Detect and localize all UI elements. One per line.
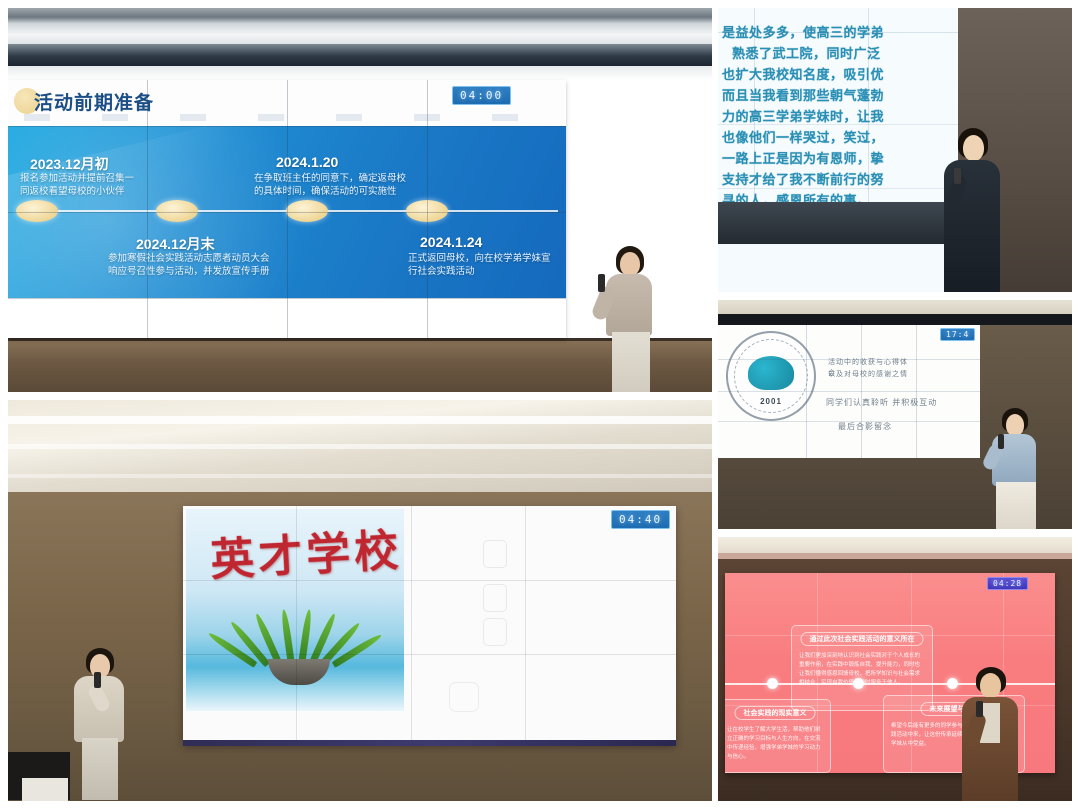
school-seal-icon: 2001 xyxy=(726,331,816,421)
timeline-desc: 响应号召性参与活动，并发放宣传手册 xyxy=(108,265,358,279)
screen-ghost-icon xyxy=(483,540,507,568)
screen-bezel-line xyxy=(8,126,566,127)
plant-pot xyxy=(268,659,330,685)
screen-bezel-line xyxy=(525,506,526,744)
timeline-date: 2024.1.20 xyxy=(276,154,338,170)
screen-ghost-icon xyxy=(483,584,507,612)
timeline-date: 2023.12月初 xyxy=(30,154,109,174)
ceiling-light-strip xyxy=(8,416,712,424)
clock-badge: 04:40 xyxy=(611,510,670,529)
legs xyxy=(612,332,650,392)
presenter xyxy=(956,667,1030,801)
slide-card: 社会实践的现实意义 让在校学生了解大学生活，帮助他们树立正确的学习目标与人生方向… xyxy=(725,699,831,773)
timeline-node xyxy=(16,200,58,222)
timeline-desc: 报名参加活动并提前召集一 xyxy=(20,172,220,186)
video-wall-screen: 活动前期准备 2023.12月初 报名参加活动并提前召集一 同返校看望母校的小伙… xyxy=(8,80,566,338)
front-desk xyxy=(718,202,958,244)
screen-ghost-icon xyxy=(449,682,479,712)
screen-bezel-line xyxy=(8,298,566,299)
microphone-icon xyxy=(598,274,605,292)
projection-screen: 是益处多多，使高三的学弟 熟悉了武工院，同时广泛 也扩大我校知名度，吸引优 而且… xyxy=(718,8,958,244)
microphone-icon xyxy=(954,168,961,184)
screen-bezel-line xyxy=(817,573,818,773)
screen-bezel-line xyxy=(718,391,980,392)
screen-bezel-line xyxy=(911,573,912,773)
screen-ghost-icon xyxy=(483,618,507,646)
timeline-node xyxy=(853,678,864,689)
timeline-desc: 的具体时间，确保活动的可实施性 xyxy=(254,185,464,199)
slide-title: 活动前期准备 xyxy=(34,88,154,115)
slide-text-line: 而且当我看到那些朝气蓬勃 xyxy=(722,85,958,106)
timeline-desc: 正式返回母校，向在校学弟学妹宣 xyxy=(408,252,566,266)
screen-bezel-line xyxy=(718,421,980,422)
panel-timeline-slide: 活动前期准备 2023.12月初 报名参加活动并提前召集一 同返校看望母校的小伙… xyxy=(8,8,712,392)
ceiling-strip xyxy=(8,34,712,44)
seal-year: 2001 xyxy=(728,397,814,406)
panel-school-seal-slide: 2001 活动中的收获与心得体会 以及对母校的感谢之情 同学们认真聆听 并积极互… xyxy=(718,300,1072,529)
microphone-icon xyxy=(998,434,1004,449)
screen-bezel-line xyxy=(296,506,297,744)
handwriting-line: 最后合影留念 xyxy=(838,421,918,432)
handwriting-line: 以及对母校的感谢之情 xyxy=(828,369,908,380)
screen-bezel-line xyxy=(287,80,288,338)
ceiling-light-strip xyxy=(8,66,712,80)
panel-speech-text-slide: 是益处多多，使高三的学弟 熟悉了武工院，同时广泛 也扩大我校知名度，吸引优 而且… xyxy=(718,8,1072,292)
screen-bezel-line xyxy=(718,32,958,33)
ceiling-dark-beam xyxy=(718,314,1072,325)
clock-badge: 04:28 xyxy=(987,577,1028,590)
screen-base-bezel xyxy=(183,740,676,746)
slide-text-line: 支持才给了我不断前行的努 xyxy=(722,169,958,190)
ceiling-light-strip xyxy=(8,444,712,449)
timeline-desc: 行社会实践活动 xyxy=(408,265,566,279)
head xyxy=(980,673,1001,698)
handwriting-line: 同学们认真聆听 并积极互动 xyxy=(826,397,956,408)
clock-badge: 04:00 xyxy=(452,86,511,105)
screen-bezel-line xyxy=(718,359,980,360)
presenter xyxy=(70,648,138,800)
head xyxy=(620,252,640,276)
screen-bezel-line xyxy=(411,506,412,744)
panel-yingcai-school-slide: 英才学校 0 xyxy=(8,400,712,801)
ceiling-light-strip xyxy=(8,474,712,478)
slide-photo: 英才学校 xyxy=(186,509,404,711)
timeline-desc: 参加寒假社会实践活动志愿者动员大会 xyxy=(108,252,358,266)
timeline-date: 2024.1.24 xyxy=(420,234,482,250)
skirt xyxy=(996,482,1036,529)
slide-text-line: 也像他们一样哭过，笑过， xyxy=(722,127,958,148)
timeline-node xyxy=(286,200,328,222)
photo-collage: 活动前期准备 2023.12月初 报名参加活动并提前召集一 同返校看望母校的小伙… xyxy=(0,0,1080,809)
screen-bezel-line xyxy=(718,124,958,125)
slide-subtext-decor xyxy=(24,114,544,121)
presenter xyxy=(986,408,1052,529)
foreground-table xyxy=(22,778,68,801)
torso xyxy=(606,274,652,336)
timeline-desc: 同返校看望母校的小伙伴 xyxy=(20,185,220,199)
screen-bezel-line xyxy=(147,80,148,338)
screen-bezel-line xyxy=(427,80,428,338)
presenter xyxy=(936,128,1010,292)
slide-title: 英才学校 xyxy=(208,514,403,588)
microphone-icon xyxy=(94,672,101,688)
ceiling-beam xyxy=(8,8,712,34)
microphone-icon xyxy=(976,701,983,717)
head xyxy=(963,135,984,161)
slide-text-block: 是益处多多，使高三的学弟 熟悉了武工院，同时广泛 也扩大我校知名度，吸引优 而且… xyxy=(722,22,958,211)
slide-text-line: 熟悉了武工院，同时广泛 xyxy=(722,43,958,64)
timeline-node xyxy=(767,678,778,689)
seal-emblem xyxy=(748,356,794,390)
timeline-desc: 在争取班主任的同意下，确定返母校 xyxy=(254,172,464,186)
slide-text-line: 也扩大我校知名度，吸引优 xyxy=(722,64,958,85)
presenter xyxy=(596,246,666,392)
ceiling-dark-beam xyxy=(8,44,712,66)
panel-red-timeline-slide: 通过此次社会实践活动的意义所在 让我们更加深刻地认识到社会实践对于个人成长的重要… xyxy=(718,537,1072,801)
projection-screen: 2001 活动中的收获与心得体会 以及对母校的感谢之情 同学们认真聆听 并积极互… xyxy=(718,325,980,458)
timeline-node xyxy=(156,200,198,222)
screen-bezel-line xyxy=(8,212,566,213)
screen-bezel-line xyxy=(725,635,1055,636)
head xyxy=(1006,414,1024,436)
slide-text-line: 一路上正是因为有恩师，挚 xyxy=(722,148,958,169)
card-title: 社会实践的现实意义 xyxy=(735,706,816,720)
screen-bezel-line xyxy=(718,188,958,189)
screen-bezel-line xyxy=(183,654,676,655)
clock-badge: 17:4 xyxy=(940,328,975,341)
card-body: 让在校学生了解大学生活，帮助他们树立正确的学习目标与人生方向，在交流中传递经验，… xyxy=(727,726,823,762)
legs xyxy=(82,738,118,800)
video-wall-screen: 英才学校 0 xyxy=(183,506,676,744)
screen-bezel-line xyxy=(183,580,676,581)
